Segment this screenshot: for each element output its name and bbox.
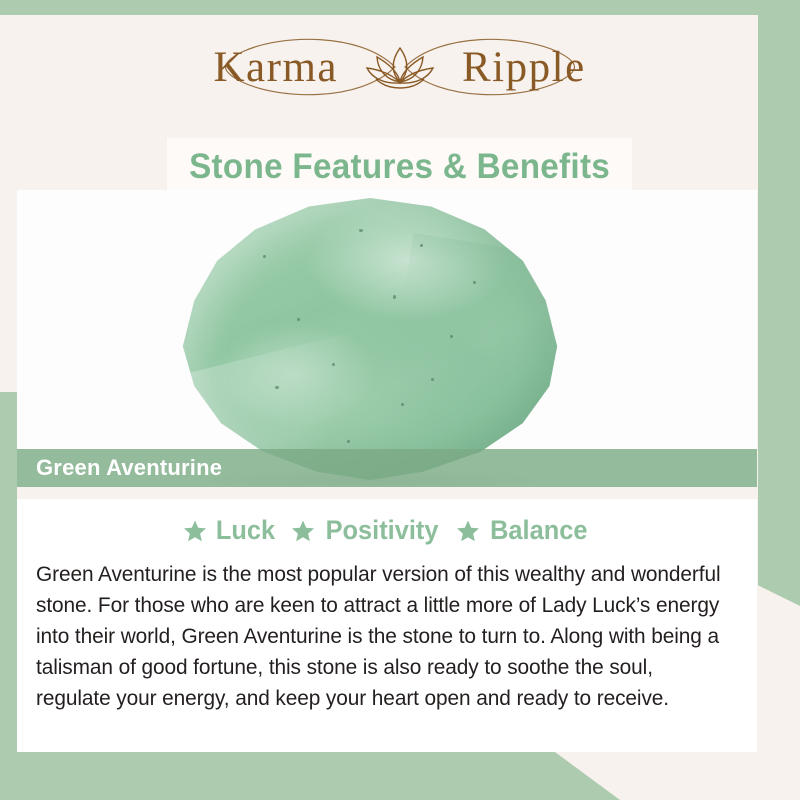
description-panel: Luck Positivity Balance Green Aventurine… (17, 487, 757, 752)
brand-name-right: Ripple (462, 44, 586, 91)
title-banner: Stone Features & Benefits (167, 138, 632, 196)
product-photo (17, 190, 757, 490)
star-icon (456, 519, 480, 543)
panel-top-strip (17, 487, 757, 499)
stone-speck (263, 255, 266, 258)
benefit-item: Positivity (291, 515, 442, 546)
benefit-item: Balance (456, 515, 591, 546)
stone-speck (401, 403, 404, 406)
stone-speck (420, 244, 423, 247)
frame-right-taper (758, 560, 800, 606)
product-photo-backdrop (17, 190, 757, 490)
stone-speck (359, 229, 363, 232)
stone-speck (275, 386, 279, 389)
page-title: Stone Features & Benefits (189, 147, 610, 187)
stone-name-label: Green Aventurine (36, 455, 222, 481)
frame-bottom-border (0, 752, 620, 800)
frame-top-border (0, 0, 800, 15)
stone-facet-shade (390, 233, 564, 403)
stone-name-band: Green Aventurine (17, 449, 757, 487)
description-text: Green Aventurine is the most popular ver… (36, 559, 725, 714)
stone-speck (297, 318, 300, 321)
green-aventurine-stone-icon (179, 198, 561, 483)
benefit-label: Luck (216, 515, 275, 546)
benefit-item: Luck (183, 515, 277, 546)
frame-left-border (0, 392, 17, 800)
brand-logo-graphic: Karma Ripple (190, 24, 610, 110)
star-icon (291, 519, 315, 543)
brand-name-left: Karma (214, 44, 339, 91)
stone-speck (473, 281, 476, 284)
stone-speck (393, 295, 396, 299)
benefit-label: Balance (490, 515, 587, 546)
infographic-page: Karma Ripple Stone Features & Benefits (0, 0, 800, 800)
stone-speck (431, 378, 434, 381)
benefit-label: Positivity (326, 515, 439, 546)
star-icon (183, 519, 207, 543)
benefits-row: Luck Positivity Balance (17, 515, 757, 546)
brand-logo: Karma Ripple (0, 24, 800, 110)
